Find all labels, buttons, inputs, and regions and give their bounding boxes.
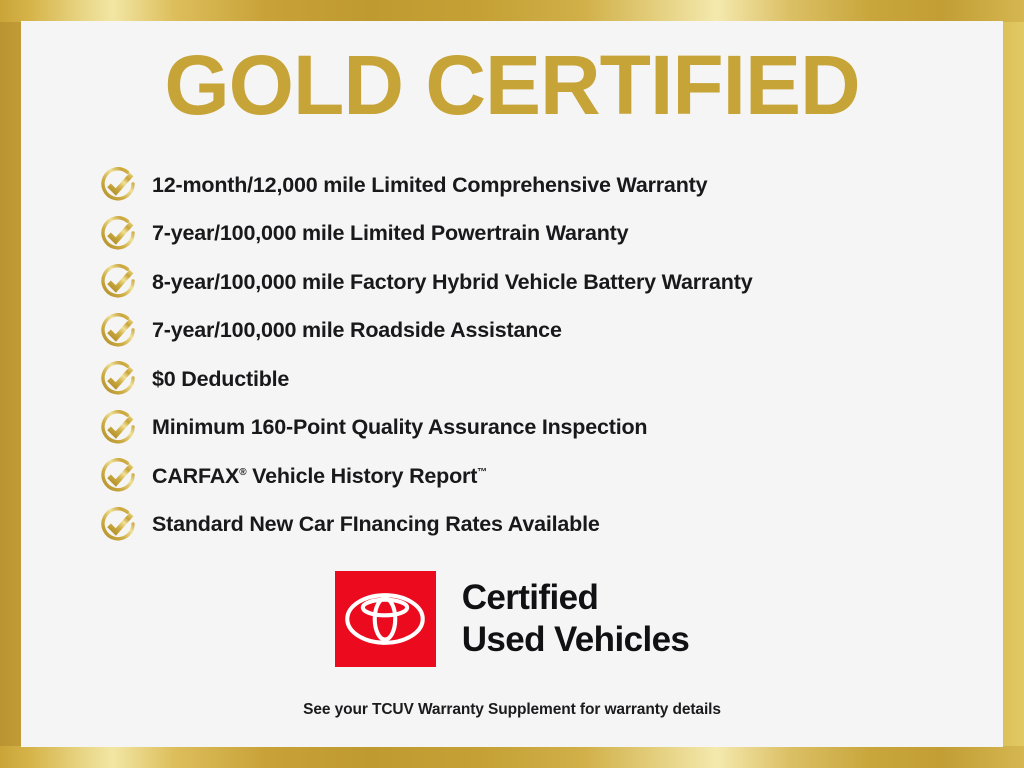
gold-frame-bottom bbox=[0, 746, 1024, 768]
check-circle-icon bbox=[96, 163, 140, 207]
list-item-label: Standard New Car FInancing Rates Availab… bbox=[152, 512, 600, 537]
list-item-label: 7-year/100,000 mile Roadside Assistance bbox=[152, 318, 562, 343]
check-circle-icon bbox=[96, 212, 140, 256]
gold-certified-card: GOLD CERTIFIED bbox=[0, 0, 1024, 768]
list-item-label: $0 Deductible bbox=[152, 367, 289, 392]
warranty-disclaimer: See your TCUV Warranty Supplement for wa… bbox=[21, 701, 1003, 719]
check-circle-icon bbox=[96, 357, 140, 401]
toyota-certified-used-vehicles-lockup: Certified Used Vehicles bbox=[21, 571, 1003, 667]
list-item: 7-year/100,000 mile Limited Powertrain W… bbox=[96, 210, 996, 259]
list-item-label: 8-year/100,000 mile Factory Hybrid Vehic… bbox=[152, 270, 752, 295]
list-item: $0 Deductible bbox=[96, 355, 996, 404]
brand-line-used-vehicles: Used Vehicles bbox=[462, 619, 690, 661]
toyota-logo-tile bbox=[335, 571, 436, 667]
list-item: 8-year/100,000 mile Factory Hybrid Vehic… bbox=[96, 258, 996, 307]
certificate-panel: GOLD CERTIFIED bbox=[21, 21, 1003, 747]
brand-wordmark: Certified Used Vehicles bbox=[462, 577, 690, 661]
list-item: 7-year/100,000 mile Roadside Assistance bbox=[96, 307, 996, 356]
check-circle-icon bbox=[96, 260, 140, 304]
carfax-report-label: Vehicle History Report bbox=[246, 464, 477, 488]
check-circle-icon bbox=[96, 309, 140, 353]
check-circle-icon bbox=[96, 454, 140, 498]
carfax-wordmark: CARFAX bbox=[152, 464, 239, 488]
list-item-label: 12-month/12,000 mile Limited Comprehensi… bbox=[152, 173, 707, 198]
list-item: Minimum 160-Point Quality Assurance Insp… bbox=[96, 404, 996, 453]
page-title: GOLD CERTIFIED bbox=[21, 39, 1003, 131]
check-circle-icon bbox=[96, 406, 140, 450]
trademark-mark: ™ bbox=[477, 467, 487, 478]
list-item-label: CARFAX® Vehicle History Report™ bbox=[152, 464, 487, 489]
list-item: CARFAX® Vehicle History Report™ bbox=[96, 452, 996, 501]
brand-line-certified: Certified bbox=[462, 577, 690, 619]
list-item-label: Minimum 160-Point Quality Assurance Insp… bbox=[152, 415, 647, 440]
check-circle-icon bbox=[96, 503, 140, 547]
list-item: 12-month/12,000 mile Limited Comprehensi… bbox=[96, 161, 996, 210]
toyota-emblem-icon bbox=[344, 589, 426, 649]
gold-frame-top bbox=[0, 0, 1024, 22]
list-item-label: 7-year/100,000 mile Limited Powertrain W… bbox=[152, 221, 628, 246]
feature-list: 12-month/12,000 mile Limited Comprehensi… bbox=[96, 161, 996, 549]
list-item: Standard New Car FInancing Rates Availab… bbox=[96, 501, 996, 550]
